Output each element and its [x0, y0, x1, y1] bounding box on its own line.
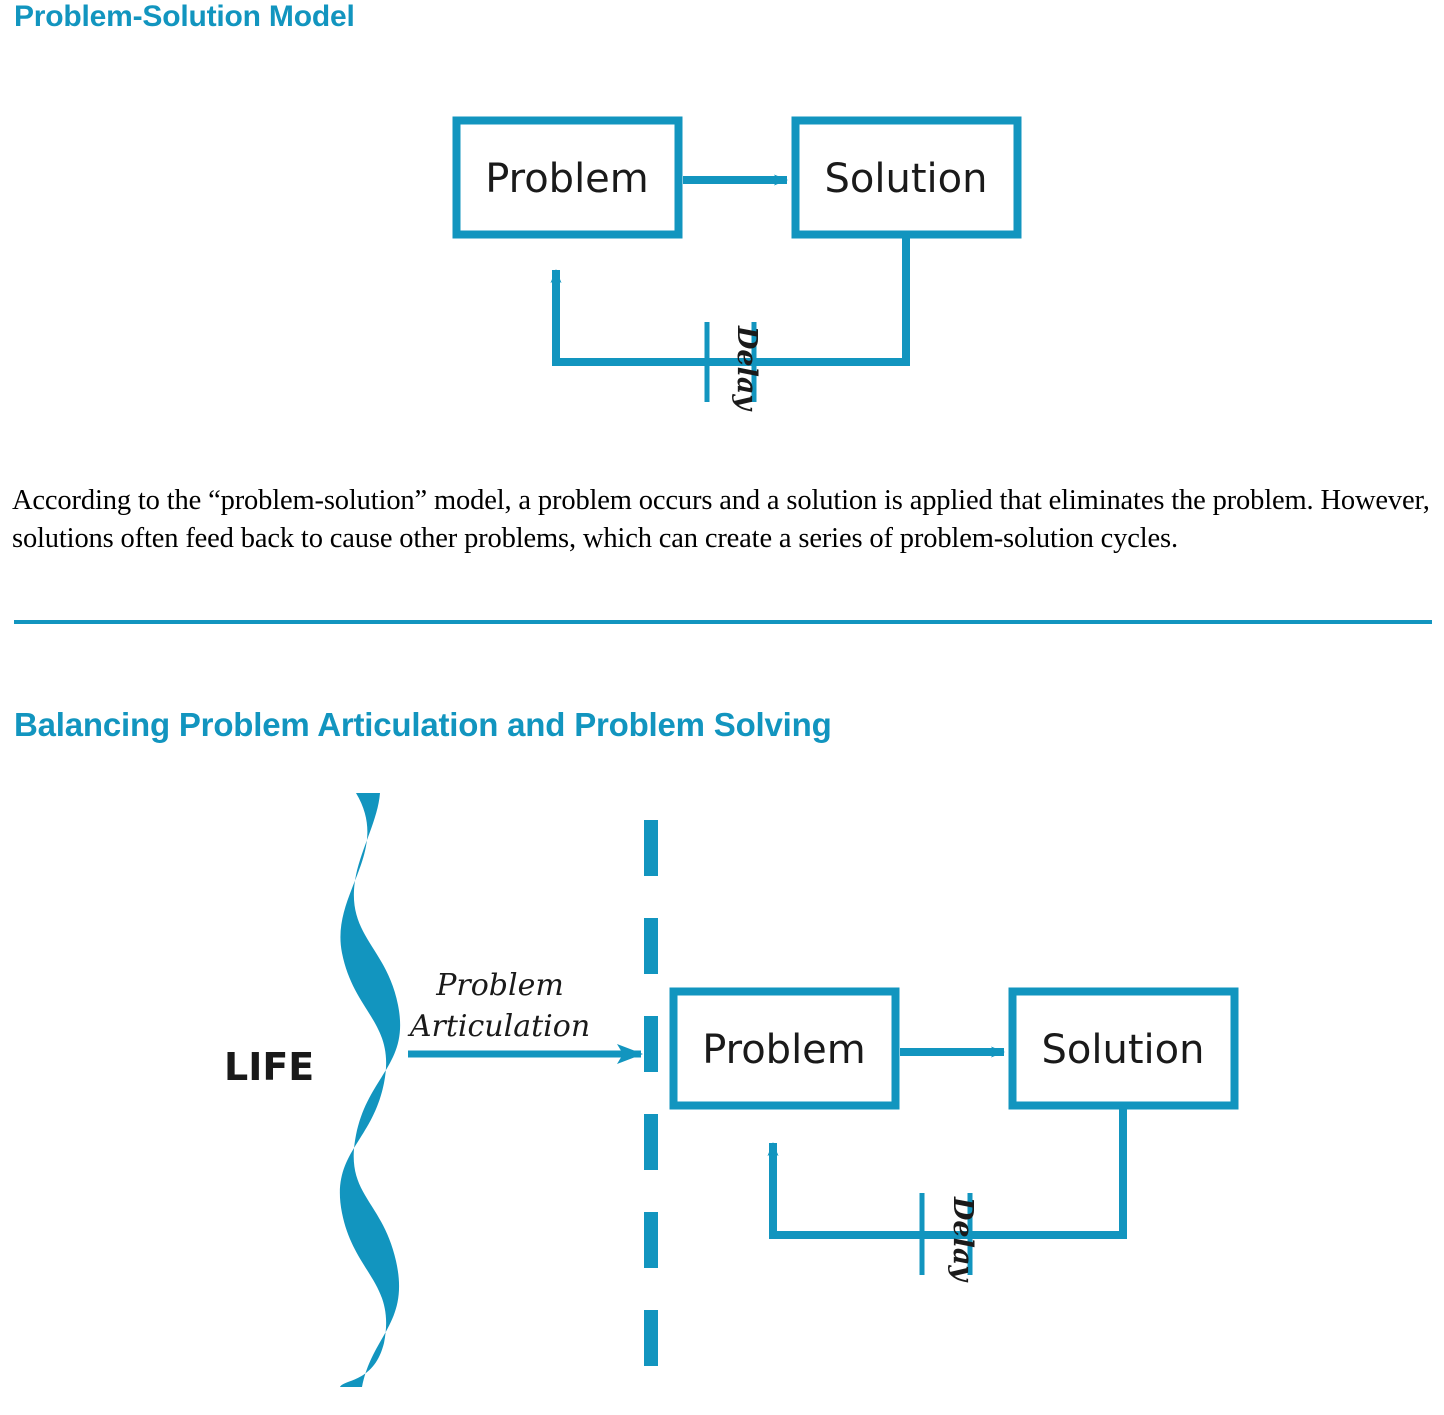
- problem-articulation-label-line-2: Articulation: [407, 1009, 590, 1044]
- node-solution-label-2: Solution: [1042, 1027, 1205, 1073]
- section-2-title: Balancing Problem Articulation and Probl…: [14, 706, 832, 744]
- section-divider: [14, 620, 1432, 624]
- node-solution-label: Solution: [825, 156, 988, 202]
- node-problem-label: Problem: [485, 156, 649, 202]
- balancing-diagram: LIFE Problem Articulation Problem Soluti…: [0, 775, 1444, 1415]
- node-problem-label-2: Problem: [702, 1027, 866, 1073]
- problem-solution-diagram: Problem Solution Delay: [0, 0, 1444, 460]
- edge-solution-to-problem-feedback: [556, 238, 906, 362]
- life-label: LIFE: [224, 1045, 314, 1089]
- delay-label: Delay: [731, 325, 762, 412]
- delay-label-2: Delay: [947, 1196, 978, 1283]
- problem-articulation-label-line-1: Problem: [435, 968, 564, 1003]
- body-paragraph: According to the “problem-solution” mode…: [12, 482, 1434, 558]
- life-wavy-boundary: [340, 793, 400, 1387]
